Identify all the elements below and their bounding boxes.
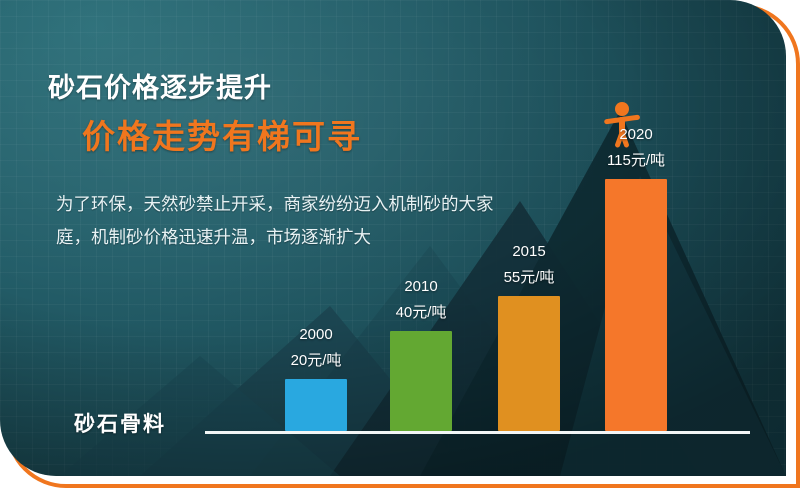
bar-year-2010: 2010 [390, 277, 452, 297]
bar-value-2000: 20元/吨 [285, 351, 347, 371]
bar-2015[interactable] [498, 296, 560, 431]
bar-2000[interactable] [285, 379, 347, 431]
bar-group-2015[interactable]: 2015 55元/吨 [498, 242, 560, 431]
bar-year-2000: 2000 [285, 325, 347, 345]
page-title: 砂石价格逐步提升 [48, 66, 272, 105]
bar-group-2000[interactable]: 2000 20元/吨 [285, 325, 347, 431]
main-panel: 砂石价格逐步提升 价格走势有梯可寻 为了环保，天然砂禁止开采，商家纷纷迈入机制砂… [0, 0, 786, 476]
bar-year-2015: 2015 [498, 242, 560, 262]
bar-group-2010[interactable]: 2010 40元/吨 [390, 277, 452, 431]
bar-2020[interactable] [605, 179, 667, 431]
bar-value-2015: 55元/吨 [498, 268, 560, 288]
infographic-canvas: 砂石价格逐步提升 价格走势有梯可寻 为了环保，天然砂禁止开采，商家纷纷迈入机制砂… [0, 0, 800, 490]
bar-year-2020: 2020 [605, 125, 667, 145]
bar-value-2020: 115元/吨 [605, 151, 667, 171]
footer-label: 砂石骨料 [74, 408, 166, 438]
bar-chart: 2000 20元/吨 2010 40元/吨 2015 55元/吨 2020 11… [205, 131, 750, 431]
bar-group-2020[interactable]: 2020 115元/吨 [605, 125, 667, 431]
chart-baseline [205, 431, 750, 434]
bar-2010[interactable] [390, 331, 452, 431]
bar-value-2010: 40元/吨 [390, 303, 452, 323]
